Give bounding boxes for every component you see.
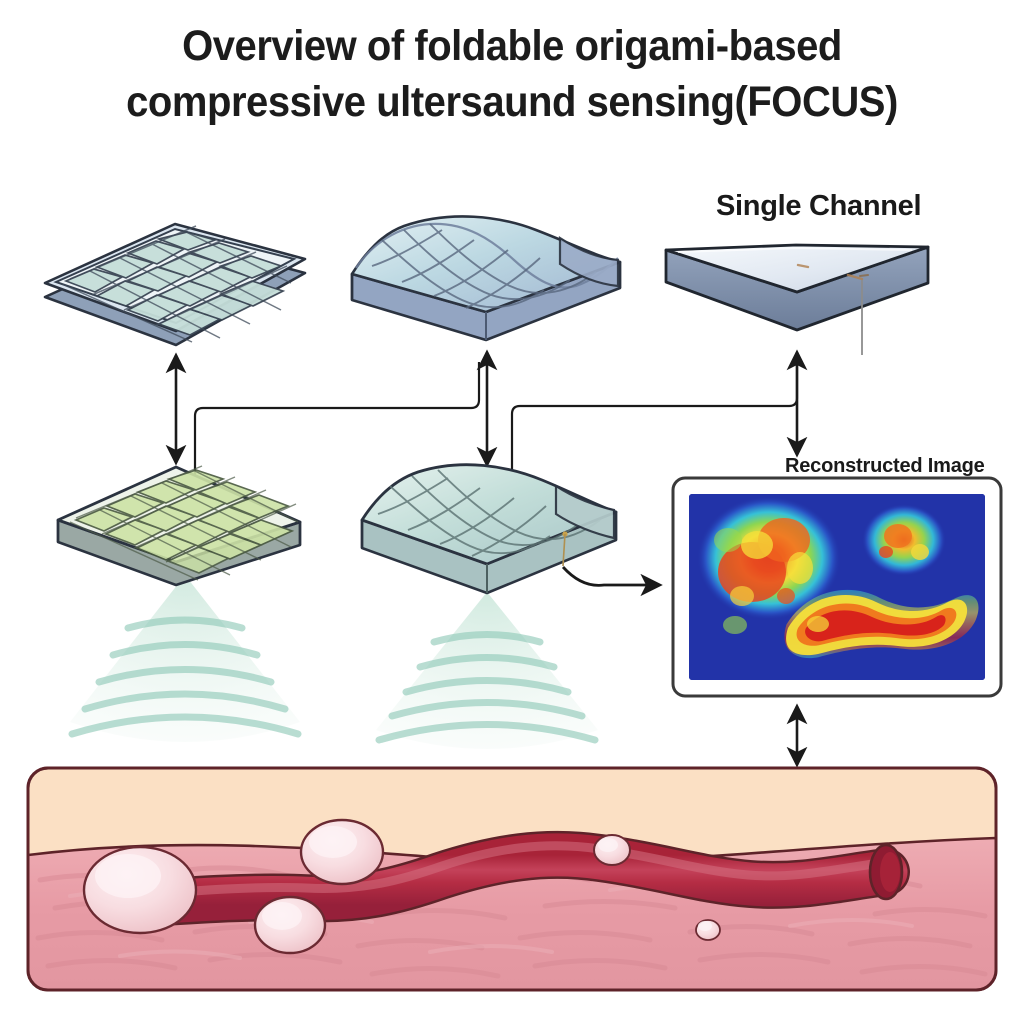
reconstructed-image-panel[interactable]: [673, 478, 1001, 696]
folded-origami-array-bottom[interactable]: [362, 465, 616, 593]
flat-transducer-array-top[interactable]: [45, 224, 313, 345]
beam-left: [70, 575, 300, 742]
heatmap-features: [689, 494, 985, 680]
flat-transducer-array-bottom[interactable]: [58, 466, 300, 585]
beam-center: [376, 592, 598, 749]
cyst-mid-lower: [255, 897, 325, 953]
diagram-graphics: [0, 0, 1024, 1024]
tissue-cross-section[interactable]: [28, 768, 996, 992]
array-cells-top: [62, 226, 313, 342]
cyst-large-left: [84, 847, 196, 933]
cyst-mid-upper: [301, 820, 383, 884]
figure-canvas: Overview of foldable origami-based compr…: [0, 0, 1024, 1024]
cyst-tiny-bottom: [696, 920, 720, 940]
folded-origami-array-top[interactable]: [352, 216, 620, 340]
single-channel-slab[interactable]: [666, 245, 928, 355]
arrow-folded-bottom-to-recon: [563, 567, 660, 585]
cyst-small-right: [594, 835, 630, 865]
